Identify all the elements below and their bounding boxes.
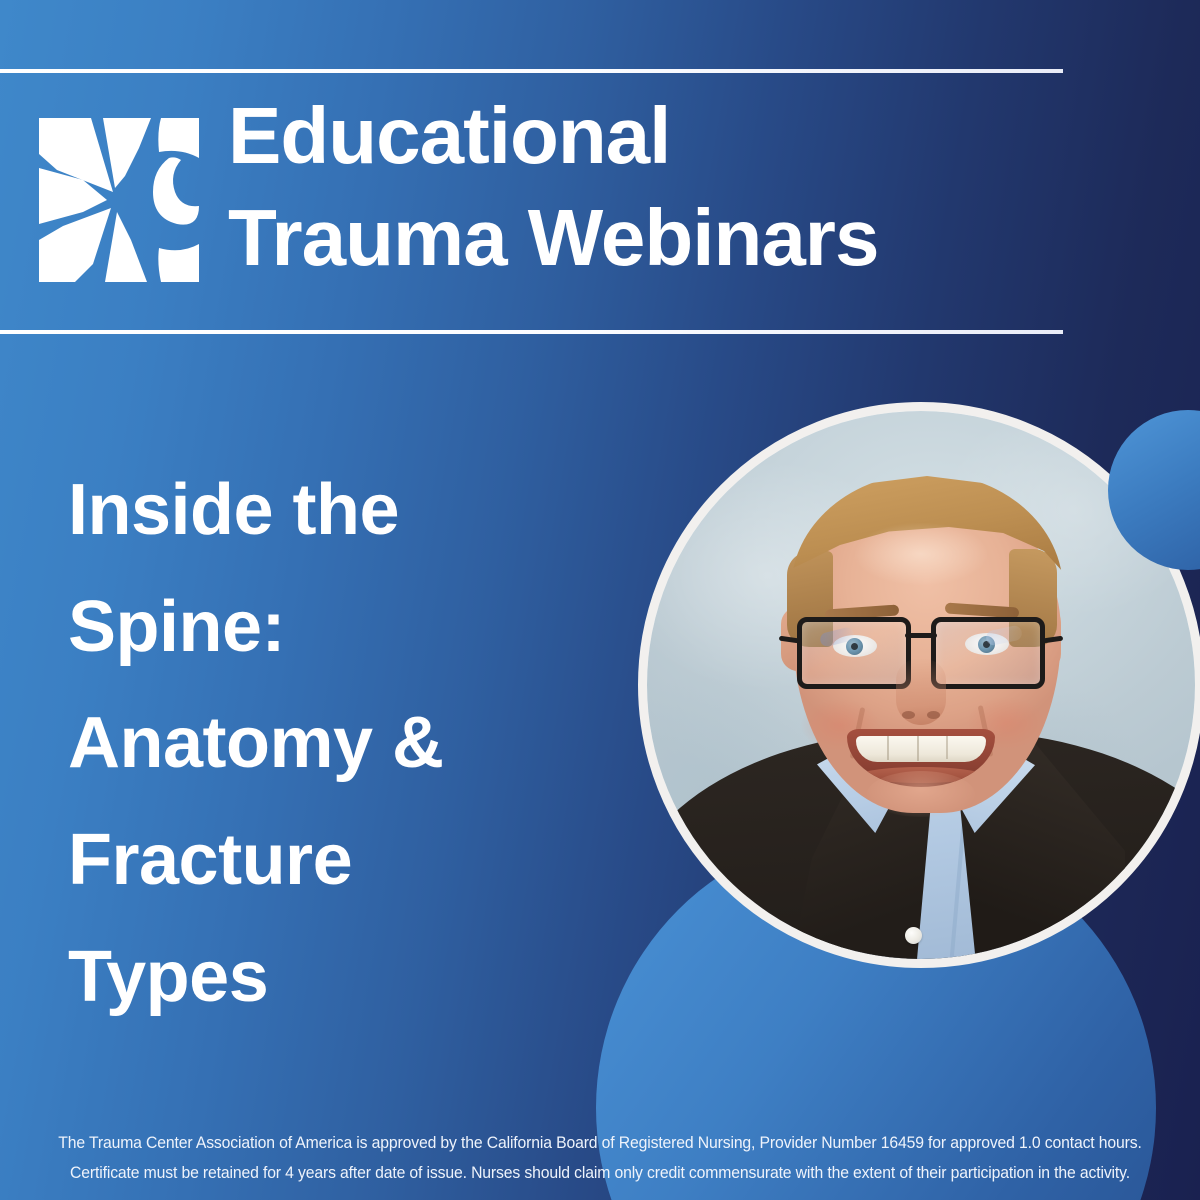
forehead-highlight [855,523,987,585]
header-rule-top [0,69,1063,73]
sunburst-logo-icon [35,114,203,286]
ce-accreditation-disclaimer: The Trauma Center Association of America… [27,1128,1173,1188]
brand-header: Educational Trauma Webinars [0,0,1200,360]
webinar-title-line: Anatomy & [68,685,588,802]
webinar-title: Inside the Spine: Anatomy & Fracture Typ… [68,452,588,1035]
brand-title: Educational Trauma Webinars [228,96,1108,278]
nostril-left [902,711,915,719]
chin-highlight [867,771,975,817]
nostril-right [927,711,940,719]
webinar-title-line: Spine: [68,569,588,686]
eyeglass-lens-right [931,617,1045,689]
webinar-title-line: Types [68,919,588,1036]
lens-glint [985,624,1023,646]
brand-title-line1: Educational [228,96,1108,176]
disclaimer-line-2: Certificate must be retained for 4 years… [27,1158,1173,1188]
header-rule-bottom [0,330,1063,334]
eyeglass-lens-left [797,617,911,689]
webinar-promo-poster: Educational Trauma Webinars Inside the S… [0,0,1200,1200]
shirt-button [905,927,922,944]
teeth-gap [887,736,889,760]
eyeglass-bridge [905,633,937,638]
webinar-title-line: Fracture [68,802,588,919]
brand-title-line2: Trauma Webinars [228,198,1108,278]
teeth-gap [917,736,919,761]
teeth [856,736,986,762]
webinar-title-line: Inside the [68,452,588,569]
lens-glint [819,626,855,648]
teeth-gap [946,736,948,759]
disclaimer-line-1: The Trauma Center Association of America… [27,1128,1173,1158]
